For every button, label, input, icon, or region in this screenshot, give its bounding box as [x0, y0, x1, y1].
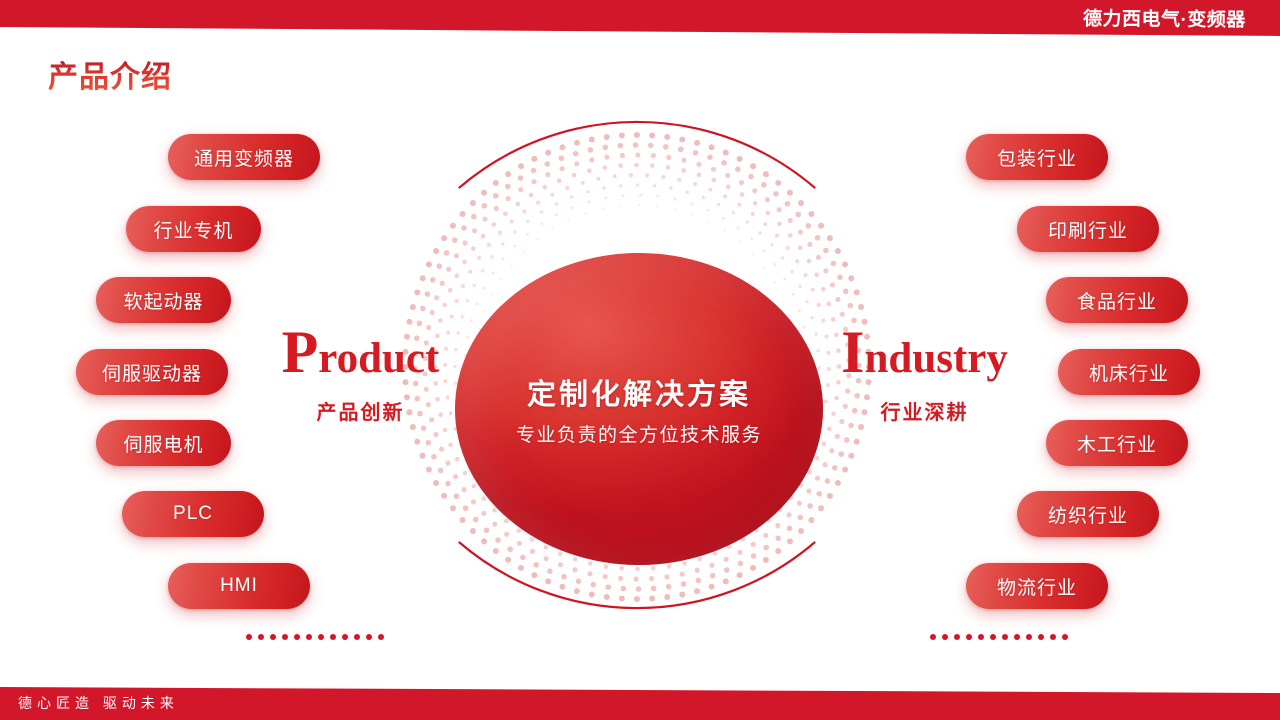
industry-pill-1[interactable]: 印刷行业	[1017, 206, 1159, 252]
decor-dot	[1062, 634, 1068, 640]
decor-dot	[246, 634, 252, 640]
product-heading-en: Product	[258, 322, 463, 382]
decor-dot	[978, 634, 984, 640]
industry-pill-label: 食品行业	[1077, 287, 1157, 314]
product-pill-label: 软起动器	[123, 287, 203, 314]
footer-slogan: 德心匠造 驱动未来	[18, 693, 179, 713]
industry-pill-2[interactable]: 食品行业	[1046, 277, 1188, 323]
brand-title: 德力西电气·变频器	[1083, 4, 1246, 32]
decor-dot	[270, 634, 276, 640]
industry-heading-cn: 行业深耕	[822, 396, 1027, 425]
decor-dot	[318, 634, 324, 640]
decor-dot	[342, 634, 348, 640]
industry-pill-label: 机床行业	[1089, 359, 1169, 386]
product-pill-label: 行业专机	[153, 216, 233, 243]
product-pill-label: HMI	[220, 575, 258, 597]
product-heading-initial: P	[282, 319, 319, 385]
industry-pill-4[interactable]: 木工行业	[1046, 420, 1188, 466]
product-pill-label: 通用变频器	[194, 144, 294, 171]
industry-pill-5[interactable]: 纺织行业	[1017, 491, 1159, 537]
industry-pill-0[interactable]: 包装行业	[966, 134, 1108, 180]
product-heading: Product 产品创新	[258, 322, 463, 425]
product-pill-2[interactable]: 软起动器	[96, 277, 231, 323]
industry-pill-label: 物流行业	[997, 573, 1077, 600]
decor-dot	[966, 634, 972, 640]
decor-dot	[282, 634, 288, 640]
decor-dot	[294, 634, 300, 640]
right-dot-row	[930, 634, 1068, 640]
industry-pill-3[interactable]: 机床行业	[1058, 349, 1200, 395]
industry-pill-label: 包装行业	[997, 144, 1077, 171]
product-pill-4[interactable]: 伺服电机	[96, 420, 231, 466]
product-heading-rest: roduct	[318, 335, 439, 382]
industry-heading-en: Industry	[822, 322, 1027, 382]
decor-dot	[990, 634, 996, 640]
center-subtitle: 专业负责的全方位技术服务	[516, 420, 762, 447]
industry-pill-label: 木工行业	[1077, 430, 1157, 457]
decor-dot	[378, 634, 384, 640]
product-pill-1[interactable]: 行业专机	[126, 206, 261, 252]
decor-dot	[1014, 634, 1020, 640]
product-pill-5[interactable]: PLC	[122, 491, 264, 537]
footer-band	[0, 684, 1280, 720]
decor-dot	[930, 634, 936, 640]
decor-dot	[258, 634, 264, 640]
product-pill-label: 伺服驱动器	[102, 359, 202, 386]
industry-heading-rest: ndustry	[864, 335, 1007, 382]
page-title: 产品介绍	[48, 52, 172, 96]
center-title: 定制化解决方案	[527, 371, 751, 413]
decor-dot	[306, 634, 312, 640]
decor-dot	[354, 634, 360, 640]
decor-dot	[330, 634, 336, 640]
industry-heading: Industry 行业深耕	[822, 322, 1027, 425]
center-text-block: 定制化解决方案 专业负责的全方位技术服务	[455, 253, 823, 565]
product-pill-0[interactable]: 通用变频器	[168, 134, 320, 180]
decor-dot	[1050, 634, 1056, 640]
left-dot-row	[246, 634, 384, 640]
industry-pill-6[interactable]: 物流行业	[966, 563, 1108, 609]
slide-canvas: 德力西电气·变频器 产品介绍 定制化解决方案 专业负责的全方位技术服务 Prod…	[0, 0, 1280, 720]
product-pill-label: 伺服电机	[123, 430, 203, 457]
decor-dot	[954, 634, 960, 640]
product-pill-label: PLC	[173, 503, 213, 525]
decor-dot	[1002, 634, 1008, 640]
industry-pill-label: 印刷行业	[1048, 216, 1128, 243]
industry-pill-label: 纺织行业	[1048, 501, 1128, 528]
product-pill-6[interactable]: HMI	[168, 563, 310, 609]
product-heading-cn: 产品创新	[258, 396, 463, 425]
decor-dot	[1026, 634, 1032, 640]
product-pill-3[interactable]: 伺服驱动器	[76, 349, 228, 395]
industry-heading-initial: I	[841, 319, 864, 385]
decor-dot	[1038, 634, 1044, 640]
decor-dot	[942, 634, 948, 640]
decor-dot	[366, 634, 372, 640]
